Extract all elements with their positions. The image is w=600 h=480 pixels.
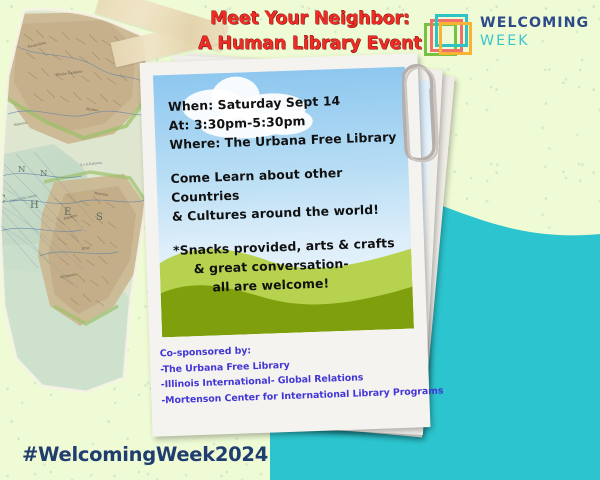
svg-text:N: N [40,169,48,179]
headline-line-1: Meet Your Neighbor: [186,7,434,32]
event-extras: *Snacks provided, arts & crafts & great … [173,233,413,298]
logo-line-2: WEEK [480,32,589,51]
svg-text:N: N [18,165,26,175]
svg-text:S: S [96,212,103,223]
photo-area: When: Saturday Sept 14 At: 3:30pm-5:30pm… [153,67,414,338]
welcoming-week-squares-icon [424,12,474,60]
event-invite: Come Learn about other Countries & Cultu… [170,161,410,226]
paperclip [402,58,456,162]
event-details: When: Saturday Sept 14 At: 3:30pm-5:30pm… [168,89,408,154]
hashtag: #WelcomingWeek2024 [22,443,268,466]
svg-text:E: E [64,207,71,218]
svg-text:H: H [30,200,39,211]
logo-line-1: WELCOMING [480,14,589,32]
welcoming-week-logo: WELCOMING WEEK [424,10,590,62]
photo-text-block: When: Saturday Sept 14 At: 3:30pm-5:30pm… [153,67,414,338]
headline-line-2: A Human Library Event [186,32,434,57]
welcoming-week-wordmark: WELCOMING WEEK [480,14,589,51]
event-polaroid-card: When: Saturday Sept 14 At: 3:30pm-5:30pm… [140,53,431,436]
poster-canvas: Neapolitan Monte Gargano Matera Salerno … [0,0,600,480]
page-title: Meet Your Neighbor: A Human Library Even… [186,7,434,57]
sponsors-block: Co-sponsored by: -The Urbana Free Librar… [159,337,423,408]
